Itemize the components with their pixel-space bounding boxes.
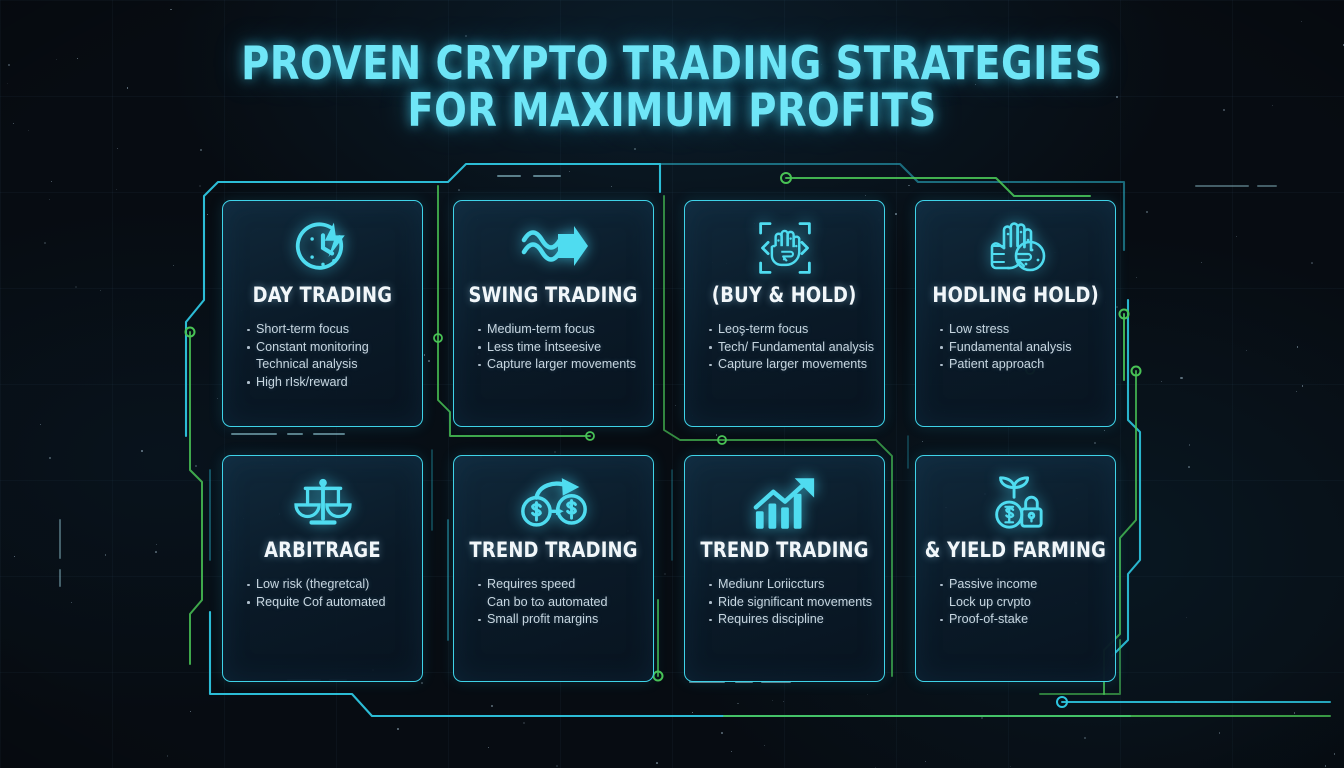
bullet-item: Less time İntseesive: [478, 339, 643, 357]
strategy-card-title: SWING TRADING: [469, 283, 638, 307]
strategy-card-title: HODLING HOLD): [932, 283, 1099, 307]
strategy-card-title: TREND TRADING: [700, 538, 868, 562]
bullet-item: Passive income: [940, 576, 1105, 594]
bullet-item: Can bo tɷ automated: [478, 594, 643, 612]
strategy-card-arbitrage[interactable]: ARBITRAGELow risk (thegretcal)Requite Co…: [222, 455, 423, 682]
strategy-card-title: (BUY & HOLD): [712, 283, 857, 307]
fist-scan-icon: [695, 217, 874, 279]
page-title-line-1: PROVEN CRYPTO TRADING STRATEGIES: [47, 40, 1297, 87]
bullet-item: High rIsk/reward: [247, 374, 412, 392]
bullet-item: Leoş-term focus: [709, 321, 874, 339]
strategy-card-bullet-list: Mediunr LoriicctursRide significant move…: [695, 576, 874, 629]
bullet-item: Patient approach: [940, 356, 1105, 374]
strategy-card-bullet-list: Low risk (thegretcal)Requite Cof automat…: [233, 576, 412, 611]
bullet-item: Lock up crvpto: [940, 594, 1105, 612]
wave-arrow-icon: [464, 217, 643, 279]
hand-holding-coin-icon: [926, 217, 1105, 279]
strategy-card-bullet-list: Requires speedCan bo tɷ automatedSmall p…: [464, 576, 643, 629]
strategy-card-buy-and-hold[interactable]: (BUY & HOLD)Leoş-term focusTech/ Fundame…: [684, 200, 885, 427]
strategy-card-grid: DAY TRADINGShort-term focusConstant moni…: [222, 200, 1116, 682]
bullet-item: Low stress: [940, 321, 1105, 339]
bar-chart-uptrend-icon: [695, 472, 874, 534]
bullet-item: Requires speed: [478, 576, 643, 594]
bullet-item: Requite Cof automated: [247, 594, 412, 612]
bullet-item: Requires discipline: [709, 611, 874, 629]
sprout-bitcoin-lock-icon: [926, 472, 1105, 534]
clock-lightning-icon: [233, 217, 412, 279]
bullet-item: Proof-of-stake: [940, 611, 1105, 629]
bullet-item: Capture larger movements: [478, 356, 643, 374]
bullet-item: Small profit margins: [478, 611, 643, 629]
bullet-item: Fundamental analysis: [940, 339, 1105, 357]
strategy-card-trend-trading-chart[interactable]: TREND TRADINGMediunr LoriicctursRide sig…: [684, 455, 885, 682]
strategy-card-swing-trading[interactable]: SWING TRADINGMedium-term focusLess time …: [453, 200, 654, 427]
strategy-card-bullet-list: Passive incomeLock up crvptoProof-of-sta…: [926, 576, 1105, 629]
bullet-item: Capture larger movements: [709, 356, 874, 374]
strategy-card-trend-trading-coins[interactable]: TREND TRADINGRequires speedCan bo tɷ aut…: [453, 455, 654, 682]
dollar-coins-arrow-icon: [464, 472, 643, 534]
scales-balance-icon: [233, 472, 412, 534]
strategy-card-yield-farming[interactable]: & YIELD FARMINGPassive incomeLock up crv…: [915, 455, 1116, 682]
strategy-card-title: DAY TRADING: [253, 283, 393, 307]
bullet-item: Constant monitoring: [247, 339, 412, 357]
strategy-card-title: & YIELD FARMING: [925, 538, 1106, 562]
page-title-line-2: FOR MAXIMUM PROFITS: [47, 87, 1297, 134]
bullet-item: Technical analysis: [247, 356, 412, 374]
strategy-card-bullet-list: Low stressFundamental analysisPatient ap…: [926, 321, 1105, 374]
strategy-card-bullet-list: Medium-term focusLess time İntseesiveCap…: [464, 321, 643, 374]
bullet-item: Short-term focus: [247, 321, 412, 339]
strategy-card-title: ARBITRAGE: [264, 538, 381, 562]
page-title: PROVEN CRYPTO TRADING STRATEGIES FOR MAX…: [0, 40, 1344, 134]
bullet-item: Ride significant movements: [709, 594, 874, 612]
strategy-card-title: TREND TRADING: [469, 538, 637, 562]
bullet-item: Tech/ Fundamental analysis: [709, 339, 874, 357]
strategy-card-bullet-list: Short-term focusConstant monitoringTechn…: [233, 321, 412, 391]
bullet-item: Medium-term focus: [478, 321, 643, 339]
strategy-card-day-trading[interactable]: DAY TRADINGShort-term focusConstant moni…: [222, 200, 423, 427]
strategy-card-hodling-hold[interactable]: HODLING HOLD)Low stressFundamental analy…: [915, 200, 1116, 427]
bullet-item: Mediunr Loriiccturs: [709, 576, 874, 594]
bullet-item: Low risk (thegretcal): [247, 576, 412, 594]
strategy-card-bullet-list: Leoş-term focusTech/ Fundamental analysi…: [695, 321, 874, 374]
